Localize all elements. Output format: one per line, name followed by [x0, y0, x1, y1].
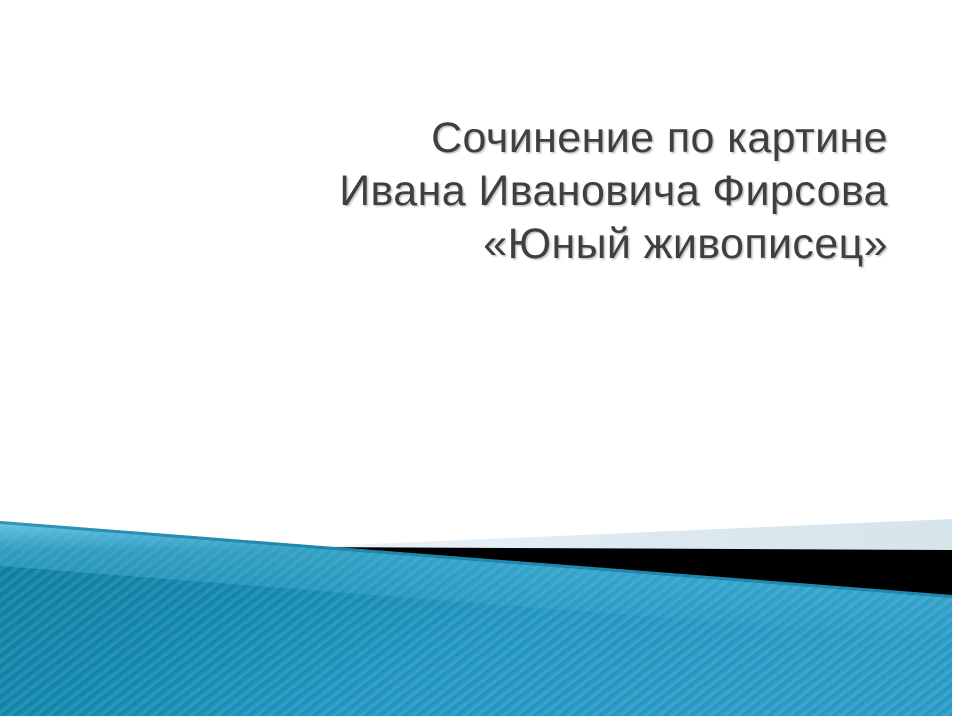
black-wedge [300, 547, 952, 601]
title-line-1: Сочинение по картине [70, 112, 888, 165]
bottom-white-margin [0, 716, 960, 720]
pale-blue-wedge [300, 519, 952, 551]
presentation-slide: Сочинение по картине Ивана Ивановича Фир… [0, 0, 960, 720]
teal-band-texture [0, 521, 952, 716]
decoration-svg [0, 0, 960, 720]
right-white-margin [952, 495, 960, 720]
teal-band-edge-line [0, 521, 952, 598]
title-line-3: «Юный живописец» [70, 218, 888, 271]
slide-title: Сочинение по картине Ивана Ивановича Фир… [70, 112, 888, 271]
teal-band-sheen [0, 521, 952, 640]
teal-band [0, 521, 952, 716]
title-line-2: Ивана Ивановича Фирсова [70, 165, 888, 218]
slide-decoration-graphic [0, 0, 960, 720]
